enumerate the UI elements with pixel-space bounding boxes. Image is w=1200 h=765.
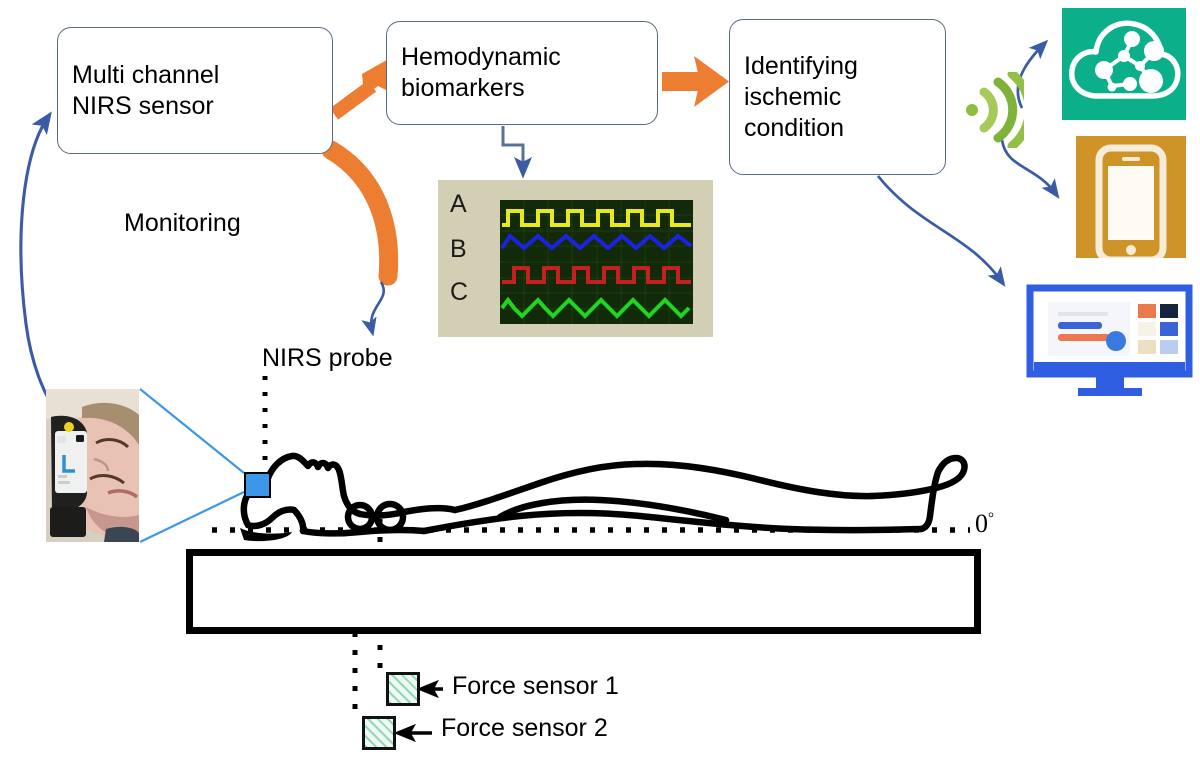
nirs-probe-marker (244, 472, 271, 498)
diagram-canvas: Multi channel NIRS sensor Hemodynamic bi… (0, 0, 1200, 765)
waveform-row-label-a: A (450, 190, 467, 219)
monitoring-label: Monitoring (124, 209, 241, 238)
trace-green (502, 300, 689, 316)
callout-line-top (140, 389, 244, 473)
flow-box-hemodynamic-biomarkers-label: Hemodynamic biomarkers (401, 42, 561, 104)
desktop-monitor-glyph (1026, 284, 1193, 399)
cloud-analytics-glyph (1062, 8, 1186, 120)
wifi-icon (962, 72, 1024, 148)
bed-table (186, 549, 981, 634)
flow-box-ischemic-condition[interactable]: Identifying ischemic condition (729, 19, 946, 175)
desktop-monitor-icon[interactable] (1026, 284, 1193, 399)
flow-box-hemodynamic-biomarkers[interactable]: Hemodynamic biomarkers (386, 21, 658, 125)
arrow-wifi-to-phone (1002, 140, 1056, 194)
arrow-hemo-to-isch-head (694, 56, 729, 107)
arrow-to-nirs-probe (371, 282, 384, 331)
force-sensor-1-square (386, 672, 420, 706)
waveform-row-label-c: C (450, 278, 468, 307)
arrow-nirs-to-hemo (334, 86, 372, 114)
waveform-row-label-b: B (450, 235, 467, 264)
monitoring-orange-curve (331, 150, 389, 276)
waveform-panel: A B C (438, 180, 713, 337)
angle-zero-label: 0° (975, 509, 994, 539)
cloud-analytics-icon[interactable] (1062, 8, 1186, 120)
flow-box-nirs-sensor[interactable]: Multi channel NIRS sensor (57, 27, 333, 154)
smartphone-icon[interactable] (1076, 136, 1186, 258)
patient-photo-illustration (46, 389, 139, 542)
arrow-hemo-to-waveform (503, 126, 523, 172)
flow-box-nirs-sensor-label: Multi channel NIRS sensor (72, 60, 219, 122)
arrow-isch-to-monitor (878, 176, 1002, 282)
arrow-hemo-to-isch-shaft (662, 72, 700, 91)
smartphone-glyph (1076, 136, 1186, 258)
callout-line-bottom (140, 492, 244, 542)
force-sensor-1-label: Force sensor 1 (452, 672, 619, 701)
flow-box-ischemic-condition-label: Identifying ischemic condition (744, 51, 858, 144)
patient-photo-inset (46, 389, 139, 542)
nirs-probe-label: NIRS probe (262, 344, 393, 373)
trace-red (502, 268, 691, 282)
force-sensor-2-label: Force sensor 2 (441, 714, 608, 743)
force-sensor-2-square (362, 716, 396, 750)
angle-zero-value: 0 (975, 509, 988, 538)
trace-yellow (502, 211, 691, 225)
pillow-shadow (240, 528, 292, 541)
waveform-traces (500, 200, 693, 324)
angle-degree-symbol: ° (988, 510, 994, 526)
waveform-screen (500, 200, 693, 324)
